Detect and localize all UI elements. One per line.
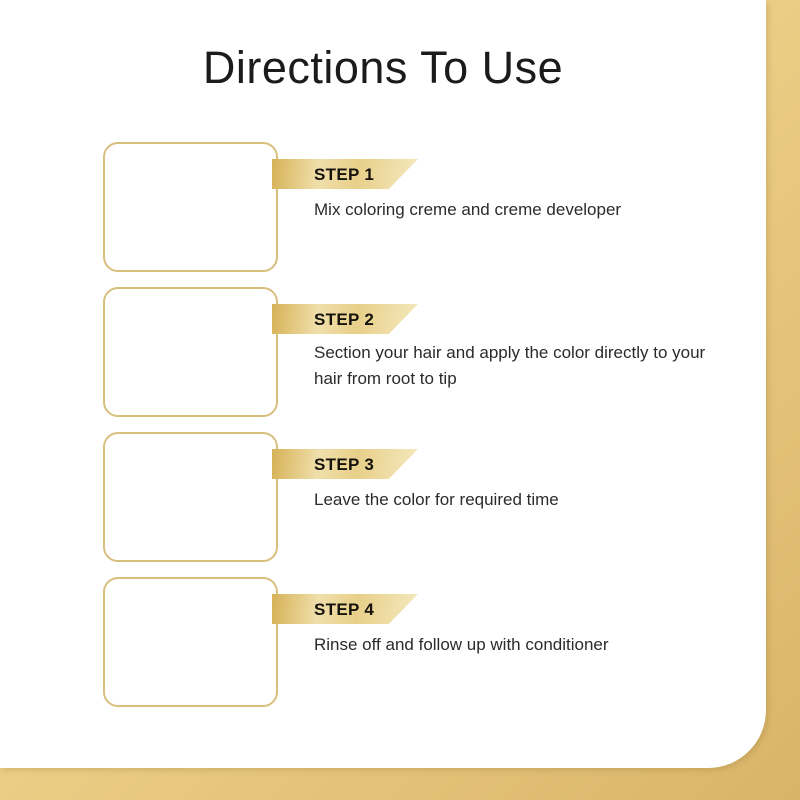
infographic-page: Directions To Use +	[0, 0, 800, 800]
step-row: + STEP 1 Mix coloring creme and creme de…	[0, 140, 766, 285]
step-label: STEP 4	[314, 600, 374, 620]
step-description: Rinse off and follow up with conditioner	[314, 632, 714, 658]
steps-list: + STEP 1 Mix coloring creme and creme de…	[0, 140, 766, 720]
step-description: Leave the color for required time	[314, 487, 714, 513]
step-label: STEP 2	[314, 310, 374, 330]
step-thumbnail-card: +	[103, 142, 278, 272]
step-ribbon: STEP 2	[272, 304, 418, 334]
step-description: Mix coloring creme and creme developer	[314, 197, 714, 223]
step-row: STEP 3 Leave the color for required time	[0, 430, 766, 575]
step-thumbnail-card: MOEHAIR	[103, 287, 278, 417]
page-title: Directions To Use	[0, 42, 766, 94]
step-ribbon: STEP 4	[272, 594, 418, 624]
step-description: Section your hair and apply the color di…	[314, 340, 714, 392]
step-row: MOEHAIR STEP 2 Section your hair and app…	[0, 285, 766, 430]
step-label: STEP 3	[314, 455, 374, 475]
step-label: STEP 1	[314, 165, 374, 185]
step-row: STEP 4 Rinse off and follow up with cond…	[0, 575, 766, 720]
white-content-panel: Directions To Use +	[0, 0, 766, 768]
step-thumbnail-card	[103, 577, 278, 707]
step-ribbon: STEP 3	[272, 449, 418, 479]
step-thumbnail-card	[103, 432, 278, 562]
step-ribbon: STEP 1	[272, 159, 418, 189]
